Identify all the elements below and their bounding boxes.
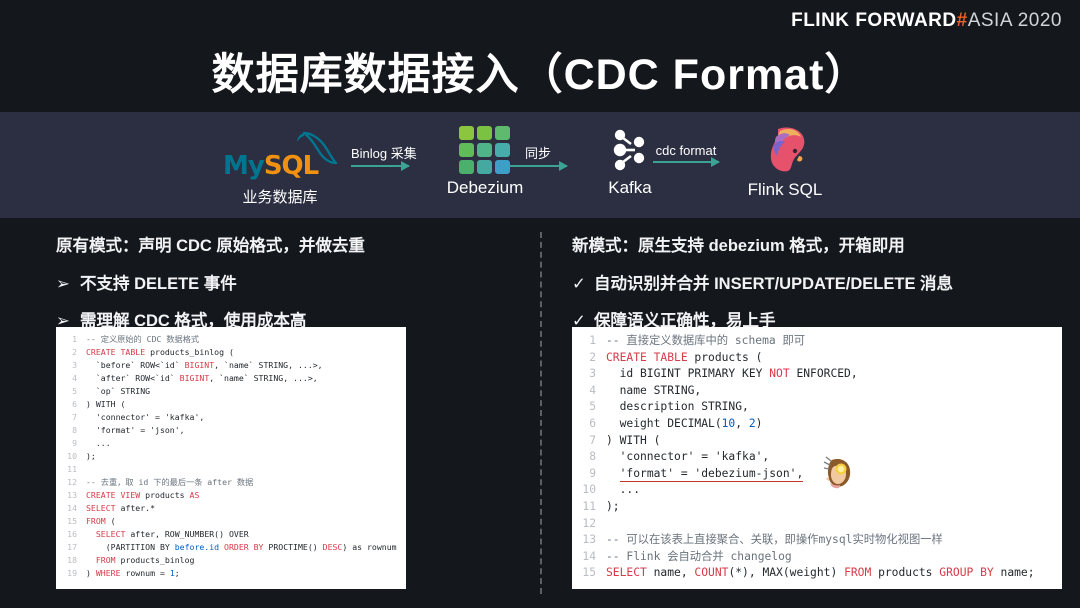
code-token: COUNT: [694, 566, 728, 579]
code-line: 12: [572, 516, 1062, 533]
arrow-line-icon: [509, 165, 567, 167]
code-token: before.id: [175, 542, 224, 552]
mysql-logo-icon: MySQL: [215, 134, 345, 182]
arrow-line-icon: [351, 165, 409, 167]
code-token: -- 去重，取 id 下的最后一条 after 数据: [86, 477, 253, 487]
code-line: 18 FROM products_binlog: [56, 554, 406, 567]
diagram-node-mysql: MySQL 业务数据库: [215, 134, 345, 207]
code-line-source: weight DECIMAL(10, 2): [606, 416, 762, 433]
code-token: 2: [749, 417, 756, 430]
code-line-number: 11: [572, 499, 606, 516]
right-code-rows: 1-- 直接定义数据库中的 schema 即可2CREATE TABLE pro…: [572, 327, 1062, 582]
code-line-number: 8: [572, 449, 606, 466]
code-line-number: 7: [56, 411, 86, 424]
code-line-source: 'format' = 'json',: [86, 424, 185, 437]
code-line-source: CREATE TABLE products_binlog (: [86, 346, 234, 359]
code-line-number: 14: [572, 549, 606, 566]
left-code-rows: 1-- 定义原始的 CDC 数据格式2CREATE TABLE products…: [56, 327, 406, 580]
code-token: 'format' = 'debezium-json',: [620, 467, 804, 482]
left-panel-heading: 原有模式：声明 CDC 原始格式，并做去重: [56, 232, 526, 256]
code-line: 10 ...: [572, 482, 1062, 499]
code-line-source: SELECT name, COUNT(*), MAX(weight) FROM …: [606, 565, 1035, 582]
code-line: 11);: [572, 499, 1062, 516]
code-token: );: [86, 451, 96, 461]
code-line-number: 17: [56, 541, 86, 554]
code-token: 'format' = 'json',: [86, 425, 185, 435]
code-line: 9 'format' = 'debezium-json',: [572, 466, 1062, 483]
code-token: ) WITH (: [606, 434, 660, 447]
code-token: (PARTITION BY: [86, 542, 175, 552]
code-line-source: `op` STRING: [86, 385, 150, 398]
code-line-source: -- 去重，取 id 下的最后一条 after 数据: [86, 476, 253, 489]
code-token: after, ROW_NUMBER() OVER: [130, 529, 248, 539]
code-token: ): [86, 568, 96, 578]
code-token: SELECT: [86, 503, 121, 513]
right-panel-item-0-label: 自动识别并合并 INSERT/UPDATE/DELETE 消息: [594, 270, 953, 294]
diagram-arrow-sync: 同步: [509, 143, 567, 173]
code-token: 'connector' = 'kafka',: [86, 412, 204, 422]
code-token: -- 定义原始的 CDC 数据格式: [86, 334, 199, 344]
code-line-number: 11: [56, 463, 86, 476]
code-token: BIGINT: [185, 360, 215, 370]
code-token: GROUP BY: [939, 566, 1000, 579]
code-line: 7) WITH (: [572, 433, 1062, 450]
code-line: 6) WITH (: [56, 398, 406, 411]
diagram-arrow-cdc-format: cdc format: [653, 143, 719, 173]
code-token: CREATE VIEW: [86, 490, 145, 500]
diagram-node-mysql-label: 业务数据库: [215, 186, 345, 207]
code-line: 7 'connector' = 'kafka',: [56, 411, 406, 424]
code-token: products (: [694, 351, 762, 364]
code-line-source: );: [86, 450, 96, 463]
code-line: 4 `after` ROW<`id` BIGINT, `name` STRING…: [56, 372, 406, 385]
code-line-number: 6: [56, 398, 86, 411]
code-token: ;: [175, 568, 180, 578]
brand-forward: FORWARD: [855, 10, 956, 31]
code-line-number: 4: [572, 383, 606, 400]
code-line-source: -- 直接定义数据库中的 schema 即可: [606, 333, 805, 350]
code-line: 16 SELECT after, ROW_NUMBER() OVER: [56, 528, 406, 541]
code-line-source: `after` ROW<`id` BIGINT, `name` STRING, …: [86, 372, 318, 385]
code-line-source: SELECT after.*: [86, 502, 155, 515]
diagram-node-flink-sql: Flink SQL: [715, 122, 855, 200]
diagram-node-flink-sql-label: Flink SQL: [715, 180, 855, 200]
code-line-number: 9: [572, 466, 606, 483]
code-token: weight DECIMAL(: [606, 417, 722, 430]
code-line: 19) WHERE rownum = 1;: [56, 567, 406, 580]
diagram-arrow-sync-label: 同步: [509, 143, 567, 162]
right-panel-item-0: ✓ 自动识别并合并 INSERT/UPDATE/DELETE 消息: [572, 270, 1062, 294]
brand-asia: ASIA 2020: [968, 10, 1062, 31]
code-line-source: ...: [606, 482, 640, 499]
code-line: 10);: [56, 450, 406, 463]
code-line-number: 3: [572, 366, 606, 383]
code-token: products: [878, 566, 939, 579]
diagram-arrow-cdc-format-label: cdc format: [653, 143, 719, 158]
code-token: CREATE TABLE: [606, 351, 694, 364]
code-token: name STRING,: [606, 384, 701, 397]
code-token: ) as rownum: [342, 542, 396, 552]
code-token: ) WITH (: [86, 399, 125, 409]
code-line-source: );: [606, 499, 620, 516]
code-token: CREATE TABLE: [86, 347, 150, 357]
code-token: (*), MAX(weight): [728, 566, 844, 579]
code-line: 8 'format' = 'json',: [56, 424, 406, 437]
code-line: 1-- 定义原始的 CDC 数据格式: [56, 333, 406, 346]
code-line-number: 9: [56, 437, 86, 450]
code-line-source: SELECT after, ROW_NUMBER() OVER: [86, 528, 249, 541]
code-line-source: ) WITH (: [606, 433, 660, 450]
code-line-source: (PARTITION BY before.id ORDER BY PROCTIM…: [86, 541, 397, 554]
code-token: WHERE: [96, 568, 126, 578]
code-token: , `name` STRING, ...>,: [214, 360, 322, 370]
code-token: ,: [735, 417, 749, 430]
code-line-number: 16: [56, 528, 86, 541]
code-line-number: 8: [56, 424, 86, 437]
left-code-block[interactable]: 1-- 定义原始的 CDC 数据格式2CREATE TABLE products…: [56, 327, 406, 589]
right-panel-heading: 新模式：原生支持 debezium 格式，开箱即用: [572, 232, 1062, 256]
code-token: name,: [654, 566, 695, 579]
code-line-number: 15: [572, 565, 606, 582]
code-line-source: 'connector' = 'kafka',: [606, 449, 769, 466]
code-line: 2CREATE TABLE products_binlog (: [56, 346, 406, 359]
code-token: name;: [1001, 566, 1035, 579]
code-line-source: -- 定义原始的 CDC 数据格式: [86, 333, 199, 346]
code-line: 14SELECT after.*: [56, 502, 406, 515]
left-panel-item-0-label: 不支持 DELETE 事件: [80, 270, 237, 294]
code-line: 8 'connector' = 'kafka',: [572, 449, 1062, 466]
code-token: products_binlog (: [150, 347, 234, 357]
left-panel-item-0: ➢ 不支持 DELETE 事件: [56, 270, 526, 294]
code-line-source: ...: [86, 437, 111, 450]
mysql-logo-accent: SQL: [264, 151, 318, 181]
code-token: NOT: [769, 367, 789, 380]
page-title: 数据库数据接入（CDC Format）: [0, 40, 1080, 102]
code-token: `op` STRING: [86, 386, 150, 396]
code-line: 5 description STRING,: [572, 399, 1062, 416]
panel-divider: [540, 232, 542, 594]
code-token: ...: [606, 483, 640, 496]
diagram-node-debezium-label: Debezium: [415, 178, 555, 198]
code-line: 2CREATE TABLE products (: [572, 350, 1062, 367]
slide: FLINK FORWARD#ASIA 2020 数据库数据接入（CDC Form…: [0, 0, 1080, 608]
thinking-head-sticker: [818, 452, 862, 496]
code-line: 3 id BIGINT PRIMARY KEY NOT ENFORCED,: [572, 366, 1062, 383]
code-token: );: [606, 500, 620, 513]
code-line-number: 18: [56, 554, 86, 567]
code-line: 9 ...: [56, 437, 406, 450]
code-line-number: 2: [56, 346, 86, 359]
code-line-number: 13: [572, 532, 606, 549]
code-token: -- 直接定义数据库中的 schema 即可: [606, 334, 805, 347]
code-line: 15FROM (: [56, 515, 406, 528]
right-code-block[interactable]: 1-- 直接定义数据库中的 schema 即可2CREATE TABLE pro…: [572, 327, 1062, 589]
brand-hash-icon: #: [957, 10, 968, 31]
diagram-node-kafka-label: Kafka: [570, 178, 690, 198]
code-token: [606, 467, 620, 480]
code-line-source: FROM (: [86, 515, 116, 528]
code-line: 11: [56, 463, 406, 476]
code-token: AS: [190, 490, 200, 500]
code-token: -- 可以在该表上直接聚合、关联，即操作mysql实时物化视图一样: [606, 533, 943, 546]
code-line: 17 (PARTITION BY before.id ORDER BY PROC…: [56, 541, 406, 554]
code-token: ENFORCED,: [790, 367, 858, 380]
code-token: 'connector' = 'kafka',: [606, 450, 769, 463]
code-line-number: 12: [572, 516, 606, 533]
code-line: 15SELECT name, COUNT(*), MAX(weight) FRO…: [572, 565, 1062, 582]
brand-flink: FLINK: [791, 10, 849, 31]
check-icon: ✓: [572, 274, 594, 294]
code-line-number: 19: [56, 567, 86, 580]
code-line-source: description STRING,: [606, 399, 749, 416]
code-line-source: id BIGINT PRIMARY KEY NOT ENFORCED,: [606, 366, 858, 383]
code-token: DESC: [323, 542, 343, 552]
code-token: FROM: [844, 566, 878, 579]
code-line: 5 `op` STRING: [56, 385, 406, 398]
code-line: 14-- Flink 会自动合并 changelog: [572, 549, 1062, 566]
code-token: (: [106, 516, 116, 526]
code-token: BIGINT: [180, 373, 210, 383]
code-token: rownum =: [125, 568, 169, 578]
diagram-arrow-binlog-label: Binlog 采集: [351, 143, 409, 162]
code-line-source: CREATE TABLE products (: [606, 350, 762, 367]
code-line-number: 10: [572, 482, 606, 499]
code-line-source: ) WHERE rownum = 1;: [86, 567, 180, 580]
conference-brand: FLINK FORWARD#ASIA 2020: [791, 10, 1062, 32]
code-line-source: `before` ROW<`id` BIGINT, `name` STRING,…: [86, 359, 323, 372]
code-line-number: 5: [572, 399, 606, 416]
code-token: ORDER BY: [224, 542, 268, 552]
architecture-diagram: MySQL 业务数据库 Binlog 采集: [0, 112, 1080, 218]
code-line-source: ) WITH (: [86, 398, 125, 411]
code-line: 3 `before` ROW<`id` BIGINT, `name` STRIN…: [56, 359, 406, 372]
code-token: `before` ROW<`id`: [86, 360, 185, 370]
code-line-number: 1: [572, 333, 606, 350]
code-line-number: 3: [56, 359, 86, 372]
code-line-number: 2: [572, 350, 606, 367]
code-token: SELECT: [606, 566, 654, 579]
code-line: 12-- 去重，取 id 下的最后一条 after 数据: [56, 476, 406, 489]
code-line-number: 13: [56, 489, 86, 502]
code-line-number: 5: [56, 385, 86, 398]
code-line: 13-- 可以在该表上直接聚合、关联，即操作mysql实时物化视图一样: [572, 532, 1062, 549]
code-line: 4 name STRING,: [572, 383, 1062, 400]
code-line-number: 6: [572, 416, 606, 433]
code-line-source: 'connector' = 'kafka',: [86, 411, 204, 424]
code-line-source: CREATE VIEW products AS: [86, 489, 199, 502]
mysql-logo-main: My: [223, 151, 264, 181]
code-token: id BIGINT PRIMARY KEY: [606, 367, 769, 380]
code-line-number: 15: [56, 515, 86, 528]
bullet-arrow-icon: ➢: [56, 274, 80, 294]
code-token: , `name` STRING, ...>,: [209, 373, 317, 383]
code-line-source: name STRING,: [606, 383, 701, 400]
code-line-number: 14: [56, 502, 86, 515]
code-token: SELECT: [86, 529, 130, 539]
code-line: 6 weight DECIMAL(10, 2): [572, 416, 1062, 433]
code-line-number: 1: [56, 333, 86, 346]
code-line-number: 7: [572, 433, 606, 450]
code-token: description STRING,: [606, 400, 749, 413]
code-line: 1-- 直接定义数据库中的 schema 即可: [572, 333, 1062, 350]
code-token: FROM: [86, 516, 106, 526]
flink-squirrel-logo-icon: [715, 122, 855, 176]
code-line-number: 10: [56, 450, 86, 463]
code-token: FROM: [86, 555, 121, 565]
code-line-number: 12: [56, 476, 86, 489]
code-token: -- Flink 会自动合并 changelog: [606, 550, 792, 563]
code-line: 13CREATE VIEW products AS: [56, 489, 406, 502]
code-token: 10: [722, 417, 736, 430]
code-line-number: 4: [56, 372, 86, 385]
code-line-source: -- 可以在该表上直接聚合、关联，即操作mysql实时物化视图一样: [606, 532, 943, 549]
code-token: products: [145, 490, 189, 500]
code-line-source: 'format' = 'debezium-json',: [606, 466, 803, 483]
code-token: after.*: [121, 503, 156, 513]
code-token: PROCTIME(): [268, 542, 322, 552]
diagram-arrow-binlog: Binlog 采集: [351, 143, 409, 173]
code-token: products_binlog: [121, 555, 195, 565]
arrow-line-icon: [653, 161, 719, 163]
code-line-source: -- Flink 会自动合并 changelog: [606, 549, 792, 566]
code-token: `after` ROW<`id`: [86, 373, 180, 383]
code-token: ...: [86, 438, 111, 448]
code-token: ): [756, 417, 763, 430]
code-line-source: FROM products_binlog: [86, 554, 194, 567]
